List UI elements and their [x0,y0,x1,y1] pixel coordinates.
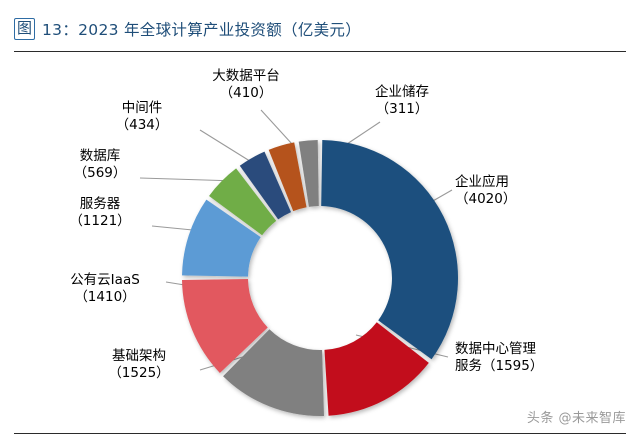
slice-label-bigdata: 大数据平台 （410） [186,68,306,102]
donut-graphic [172,130,468,426]
slice-label-dc-mgmt: 数据中心管理 服务（1595） [455,341,635,375]
slice-label-enterprise-storage: 企业储存 （311） [342,84,462,118]
slice-label-public-cloud: 公有云IaaS （1410） [44,272,166,306]
slice-label-database: 数据库 （569） [50,148,150,182]
donut-slice [321,140,458,359]
figure-header: 图 13：2023 年全球计算产业投资额（亿美元） [0,0,640,60]
donut-chart: 大数据平台 （410） 企业储存 （311） 中间件 （434） 数据库 （56… [0,60,640,440]
slice-label-middleware: 中间件 （434） [86,100,198,134]
footer-divider [14,433,626,434]
slice-label-enterprise-app: 企业应用 （4020） [455,174,625,208]
figure-badge: 图 [14,18,35,40]
title-divider [14,51,626,52]
watermark: 头条 @未来智库 [527,407,626,426]
page-title: 13：2023 年全球计算产业投资额（亿美元） [42,18,361,40]
slice-label-infrastructure: 基础架构 （1525） [78,348,200,382]
slice-label-server: 服务器 （1121） [48,196,152,230]
figure-title-row: 图 13：2023 年全球计算产业投资额（亿美元） [14,18,361,40]
